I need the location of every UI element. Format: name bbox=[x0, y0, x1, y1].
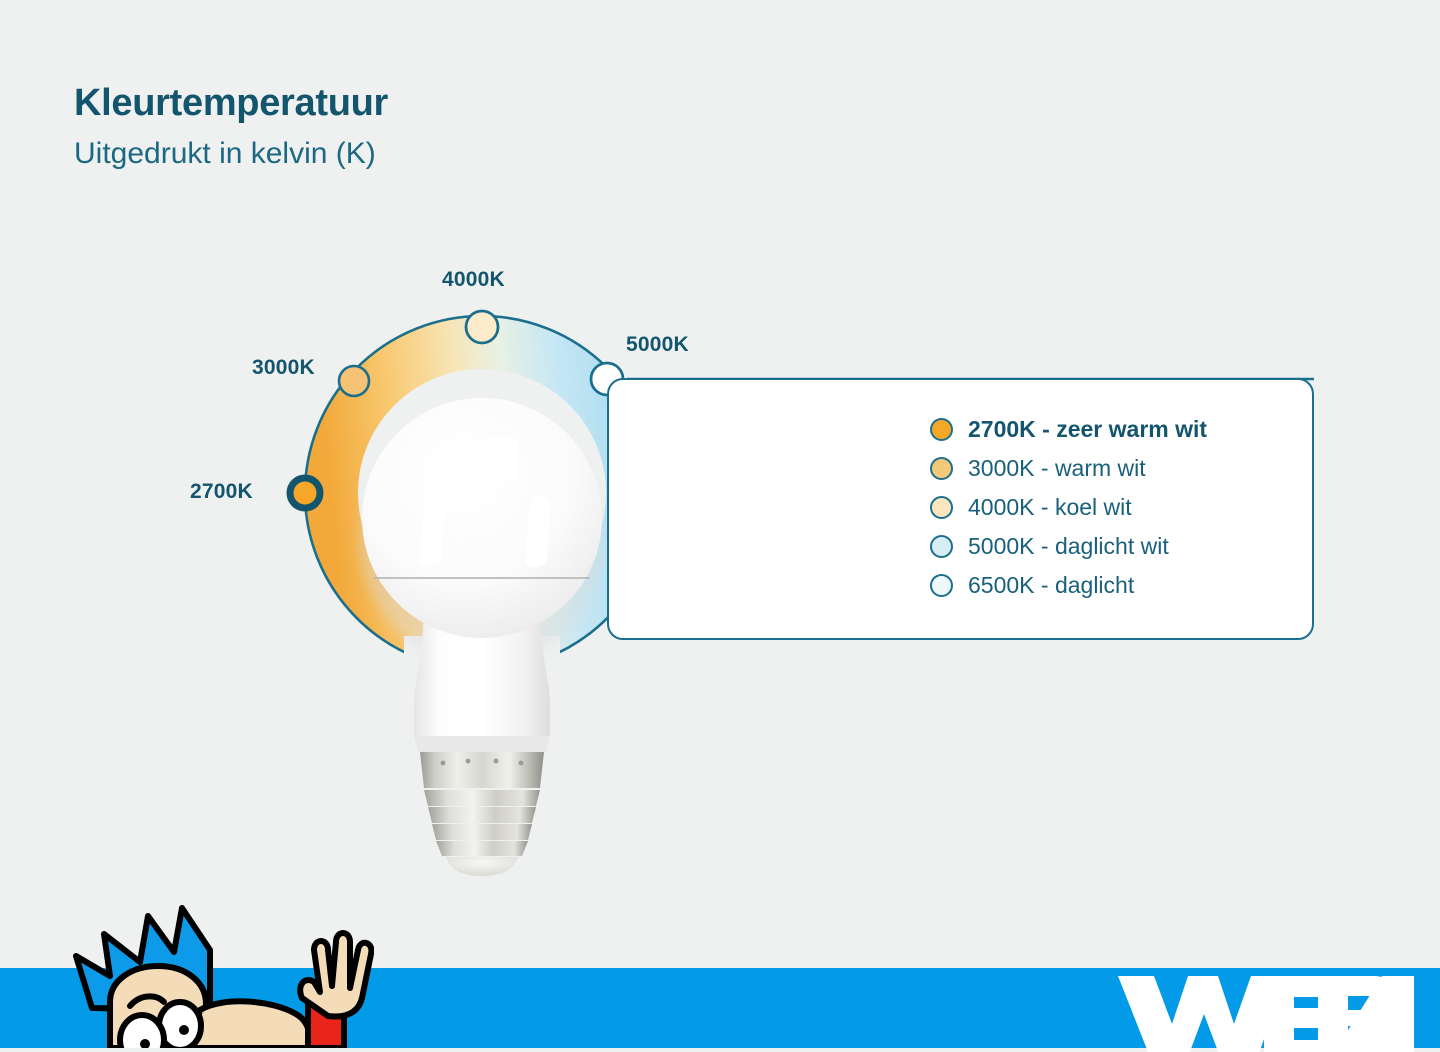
legend-label-6500k: 6500K - daglicht bbox=[968, 574, 1134, 597]
ring-label-2700k: 2700K bbox=[190, 480, 253, 504]
bulb-metal-cap bbox=[420, 752, 544, 788]
legend-label-4000k: 4000K - koel wit bbox=[968, 496, 1132, 519]
legend-item-6500k[interactable]: 6500K - daglicht bbox=[930, 569, 1207, 602]
legend-label-3000k: 3000K - warm wit bbox=[968, 457, 1146, 480]
infographic-canvas: Kleurtemperatuur Uitgedrukt in kelvin (K… bbox=[0, 0, 1440, 1048]
bulb-contact-tip bbox=[446, 857, 518, 876]
bulb-collar bbox=[414, 736, 550, 752]
ring-marker-3000k[interactable] bbox=[339, 366, 369, 396]
bulb-screw-threads bbox=[424, 790, 540, 856]
legend-dot-3000k-icon bbox=[930, 457, 953, 480]
legend-item-4000k[interactable]: 4000K - koel wit bbox=[930, 491, 1207, 524]
ring-marker-2700k-active[interactable] bbox=[290, 478, 320, 508]
legend-label-5000k: 5000K - daglicht wit bbox=[968, 535, 1169, 558]
mascot-character bbox=[14, 898, 374, 1048]
legend-label-2700k: 2700K - zeer warm wit bbox=[968, 418, 1207, 441]
ring-label-4000k: 4000K bbox=[442, 268, 505, 292]
weba-logo bbox=[1114, 966, 1414, 1052]
legend-item-2700k[interactable]: 2700K - zeer warm wit bbox=[930, 413, 1207, 446]
legend-dot-2700k-icon bbox=[930, 418, 953, 441]
mascot-nose bbox=[190, 1001, 310, 1048]
legend-list: 2700K - zeer warm wit 3000K - warm wit 4… bbox=[930, 413, 1207, 602]
legend-item-5000k[interactable]: 5000K - daglicht wit bbox=[930, 530, 1207, 563]
ring-marker-4000k[interactable] bbox=[466, 311, 498, 343]
legend-dot-5000k-icon bbox=[930, 535, 953, 558]
ring-label-5000k: 5000K bbox=[626, 333, 689, 357]
bulb-glass bbox=[362, 398, 602, 638]
legend-item-3000k[interactable]: 3000K - warm wit bbox=[930, 452, 1207, 485]
mascot-hand bbox=[300, 933, 371, 1016]
legend-dot-4000k-icon bbox=[930, 496, 953, 519]
ring-label-3000k: 3000K bbox=[252, 356, 315, 380]
legend-dot-6500k-icon bbox=[930, 574, 953, 597]
